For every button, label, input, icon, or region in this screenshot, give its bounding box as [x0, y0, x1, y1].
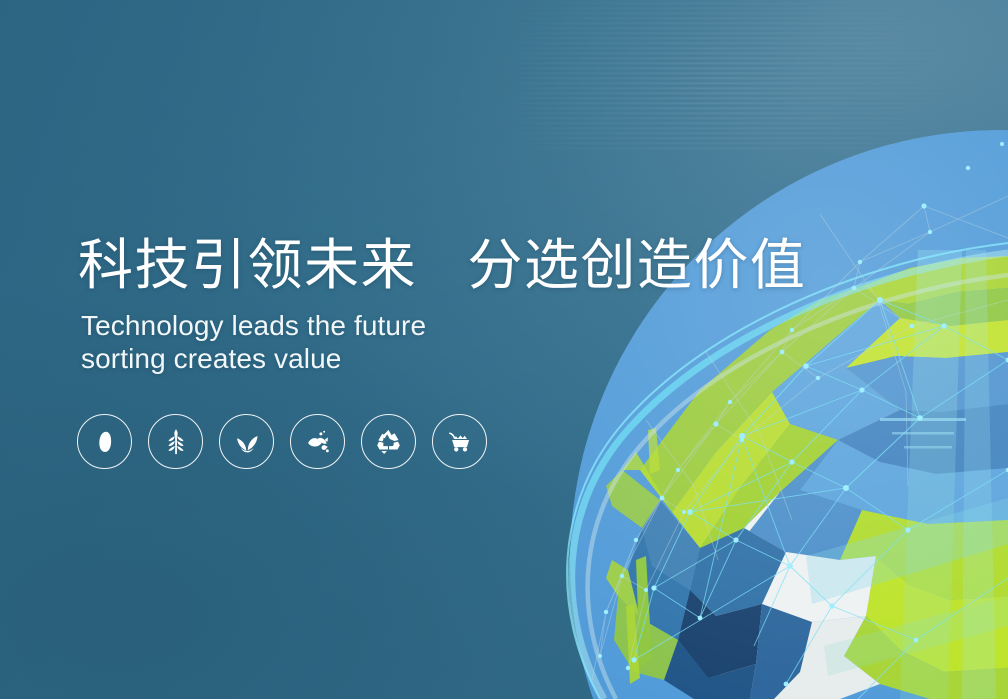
recycle-icon — [374, 427, 403, 456]
icon-badge-rice-grain[interactable] — [77, 414, 132, 469]
icon-badge-tea-leaves[interactable] — [219, 414, 274, 469]
mine-cart-icon — [445, 427, 475, 457]
hero-text-block: 科技引领未来 分选创造价值 Technology leads the futur… — [78, 236, 778, 375]
icon-badge-mine-cart[interactable] — [432, 414, 487, 469]
fish-icon — [303, 427, 333, 457]
tea-leaves-icon — [232, 427, 262, 457]
headline-chinese: 科技引领未来 分选创造价值 — [78, 236, 778, 295]
subtitle-english: Technology leads the future sorting crea… — [81, 309, 778, 375]
subtitle-line-1: Technology leads the future — [81, 309, 778, 342]
industry-icon-row — [77, 414, 487, 469]
hero-banner: 科技引领未来 分选创造价值 Technology leads the futur… — [0, 0, 1008, 699]
wheat-stalk-icon — [161, 427, 191, 457]
icon-badge-recycle[interactable] — [361, 414, 416, 469]
background-scanline-streak — [520, 0, 1008, 150]
icon-badge-fish[interactable] — [290, 414, 345, 469]
subtitle-line-2: sorting creates value — [81, 342, 778, 375]
icon-badge-wheat-stalk[interactable] — [148, 414, 203, 469]
rice-grain-icon — [91, 428, 119, 456]
